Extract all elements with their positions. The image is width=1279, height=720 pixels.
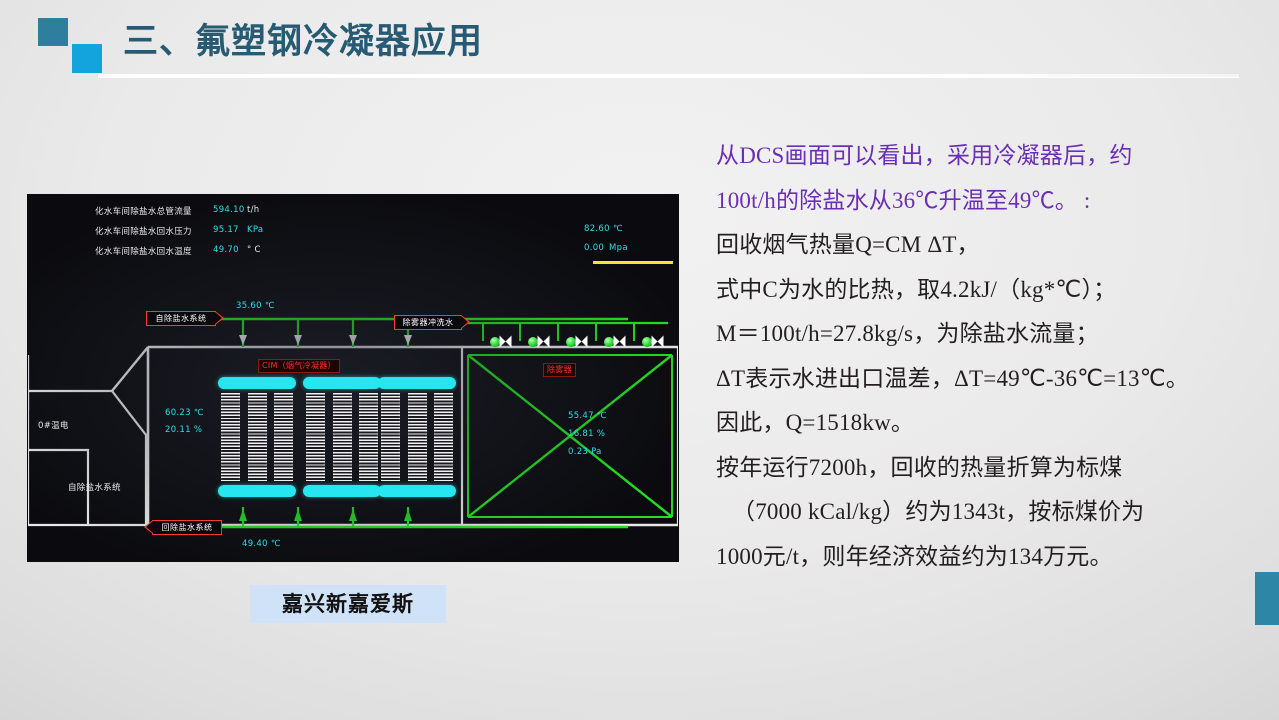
text-line: M＝100t/h=27.8kg/s，为除盐水流量； xyxy=(716,312,1268,357)
valve-body-icon xyxy=(575,335,588,348)
logo-mark xyxy=(38,18,104,74)
readout-value: 594.10 xyxy=(213,205,245,215)
text-line: 因此，Q=1518kw。 xyxy=(716,401,1268,446)
readout-label: 化水车间除盐水总管流量 xyxy=(95,205,192,217)
valve-body-icon xyxy=(537,335,550,348)
gas-inlet-reading: 20.11 % xyxy=(165,425,202,435)
tube-column xyxy=(408,393,427,481)
condenser-module xyxy=(303,377,381,497)
tube-column xyxy=(381,393,400,481)
readout-label: 化水车间除盐水回水压力 xyxy=(95,225,192,237)
readout-value: 0.00 xyxy=(584,243,604,253)
page-title: 三、氟塑钢冷凝器应用 xyxy=(123,20,483,64)
valve-body-icon xyxy=(499,335,512,348)
readout-label: 化水车间除盐水回水温度 xyxy=(95,245,192,257)
gas-outlet-reading: 16.81 % xyxy=(568,429,605,439)
text-line: 回收烟气热量Q=CM ΔT， xyxy=(716,223,1268,268)
right-accent-bar xyxy=(1255,572,1279,625)
readout-value: 49.70 xyxy=(213,245,239,255)
tube-column xyxy=(274,393,293,481)
readout-unit: Mpa xyxy=(609,243,628,253)
tube-column xyxy=(434,393,453,481)
valve-body-icon xyxy=(613,335,626,348)
dcs-screen-photo: 化水车间除盐水总管流量 594.10 t/h 化水车间除盐水回水压力 95.17… xyxy=(28,195,678,561)
trend-bar-yellow xyxy=(593,261,673,264)
readout-unit: ℃ xyxy=(613,224,623,234)
readout-unit: t/h xyxy=(247,205,259,215)
module-footer-bar xyxy=(218,485,296,497)
tube-column xyxy=(306,393,325,481)
valve-symbol[interactable] xyxy=(566,335,588,348)
logo-square-light-icon xyxy=(72,44,102,73)
condenser-module xyxy=(378,377,456,497)
gas-inlet-reading: 60.23 ℃ xyxy=(165,408,204,418)
valve-symbol[interactable] xyxy=(604,335,626,348)
demister-label: 除雾器 xyxy=(543,363,576,377)
text-line: 1000元/t，则年经济效益约为134万元。 xyxy=(716,535,1268,580)
module-footer-bar xyxy=(303,485,381,497)
title-divider xyxy=(98,74,1239,77)
gas-outlet-reading: 0.23 Pa xyxy=(568,447,602,457)
module-header-bar xyxy=(378,377,456,389)
condenser-label: CIM（烟气冷凝器） xyxy=(258,359,340,373)
text-line: 从DCS画面可以看出，采用冷凝器后，约 xyxy=(716,134,1268,179)
text-line: （7000 kCal/kg）约为1343t，按标煤价为 xyxy=(716,490,1268,535)
text-line: ΔT表示水进出口温差，ΔT=49℃-36℃=13℃。 xyxy=(716,357,1268,402)
explanation-text-block: 从DCS画面可以看出，采用冷凝器后，约 100t/h的除盐水从36℃升温至49℃… xyxy=(716,134,1268,579)
valve-symbol[interactable] xyxy=(490,335,512,348)
tube-column xyxy=(248,393,267,481)
tube-column xyxy=(333,393,352,481)
readout-value: 95.17 xyxy=(213,225,239,235)
module-tube-bundle xyxy=(221,393,293,481)
valve-body-icon xyxy=(651,335,664,348)
module-header-bar xyxy=(303,377,381,389)
tube-column xyxy=(359,393,378,481)
outlet-tag: 回除盐水系统 xyxy=(152,520,222,535)
text-line: 按年运行7200h，回收的热量折算为标煤 xyxy=(716,446,1268,491)
outlet-temperature: 49.40 ℃ xyxy=(242,539,281,549)
wash-water-tag: 除雾器冲洗水 xyxy=(394,315,462,330)
module-footer-bar xyxy=(378,485,456,497)
module-tube-bundle xyxy=(306,393,378,481)
module-header-bar xyxy=(218,377,296,389)
duct-label-top: 0#温电 xyxy=(38,419,69,431)
tube-column xyxy=(221,393,240,481)
photo-caption: 嘉兴新嘉爱斯 xyxy=(250,585,446,623)
inlet-tag: 自除盐水系统 xyxy=(146,311,216,326)
module-tube-bundle xyxy=(381,393,453,481)
condenser-module xyxy=(218,377,296,497)
readout-unit: ° C xyxy=(247,245,261,255)
text-line: 100t/h的除盐水从36℃升温至49℃。 : xyxy=(716,179,1268,224)
readout-value: 82.60 xyxy=(584,224,610,234)
text-line: 式中C为水的比热，取4.2kJ/（kg*℃）； xyxy=(716,268,1268,313)
readout-unit: KPa xyxy=(247,225,263,235)
gas-outlet-reading: 55.47 ℃ xyxy=(568,411,607,421)
inlet-temperature: 35.60 ℃ xyxy=(236,301,275,311)
valve-symbol[interactable] xyxy=(528,335,550,348)
logo-square-dark-icon xyxy=(38,18,68,46)
valve-symbol[interactable] xyxy=(642,335,664,348)
duct-label-bottom: 自除盐水系统 xyxy=(68,481,121,493)
slide-canvas: 三、氟塑钢冷凝器应用 从DCS画面可以看出，采用冷凝器后，约 100t/h的除盐… xyxy=(0,0,1279,720)
